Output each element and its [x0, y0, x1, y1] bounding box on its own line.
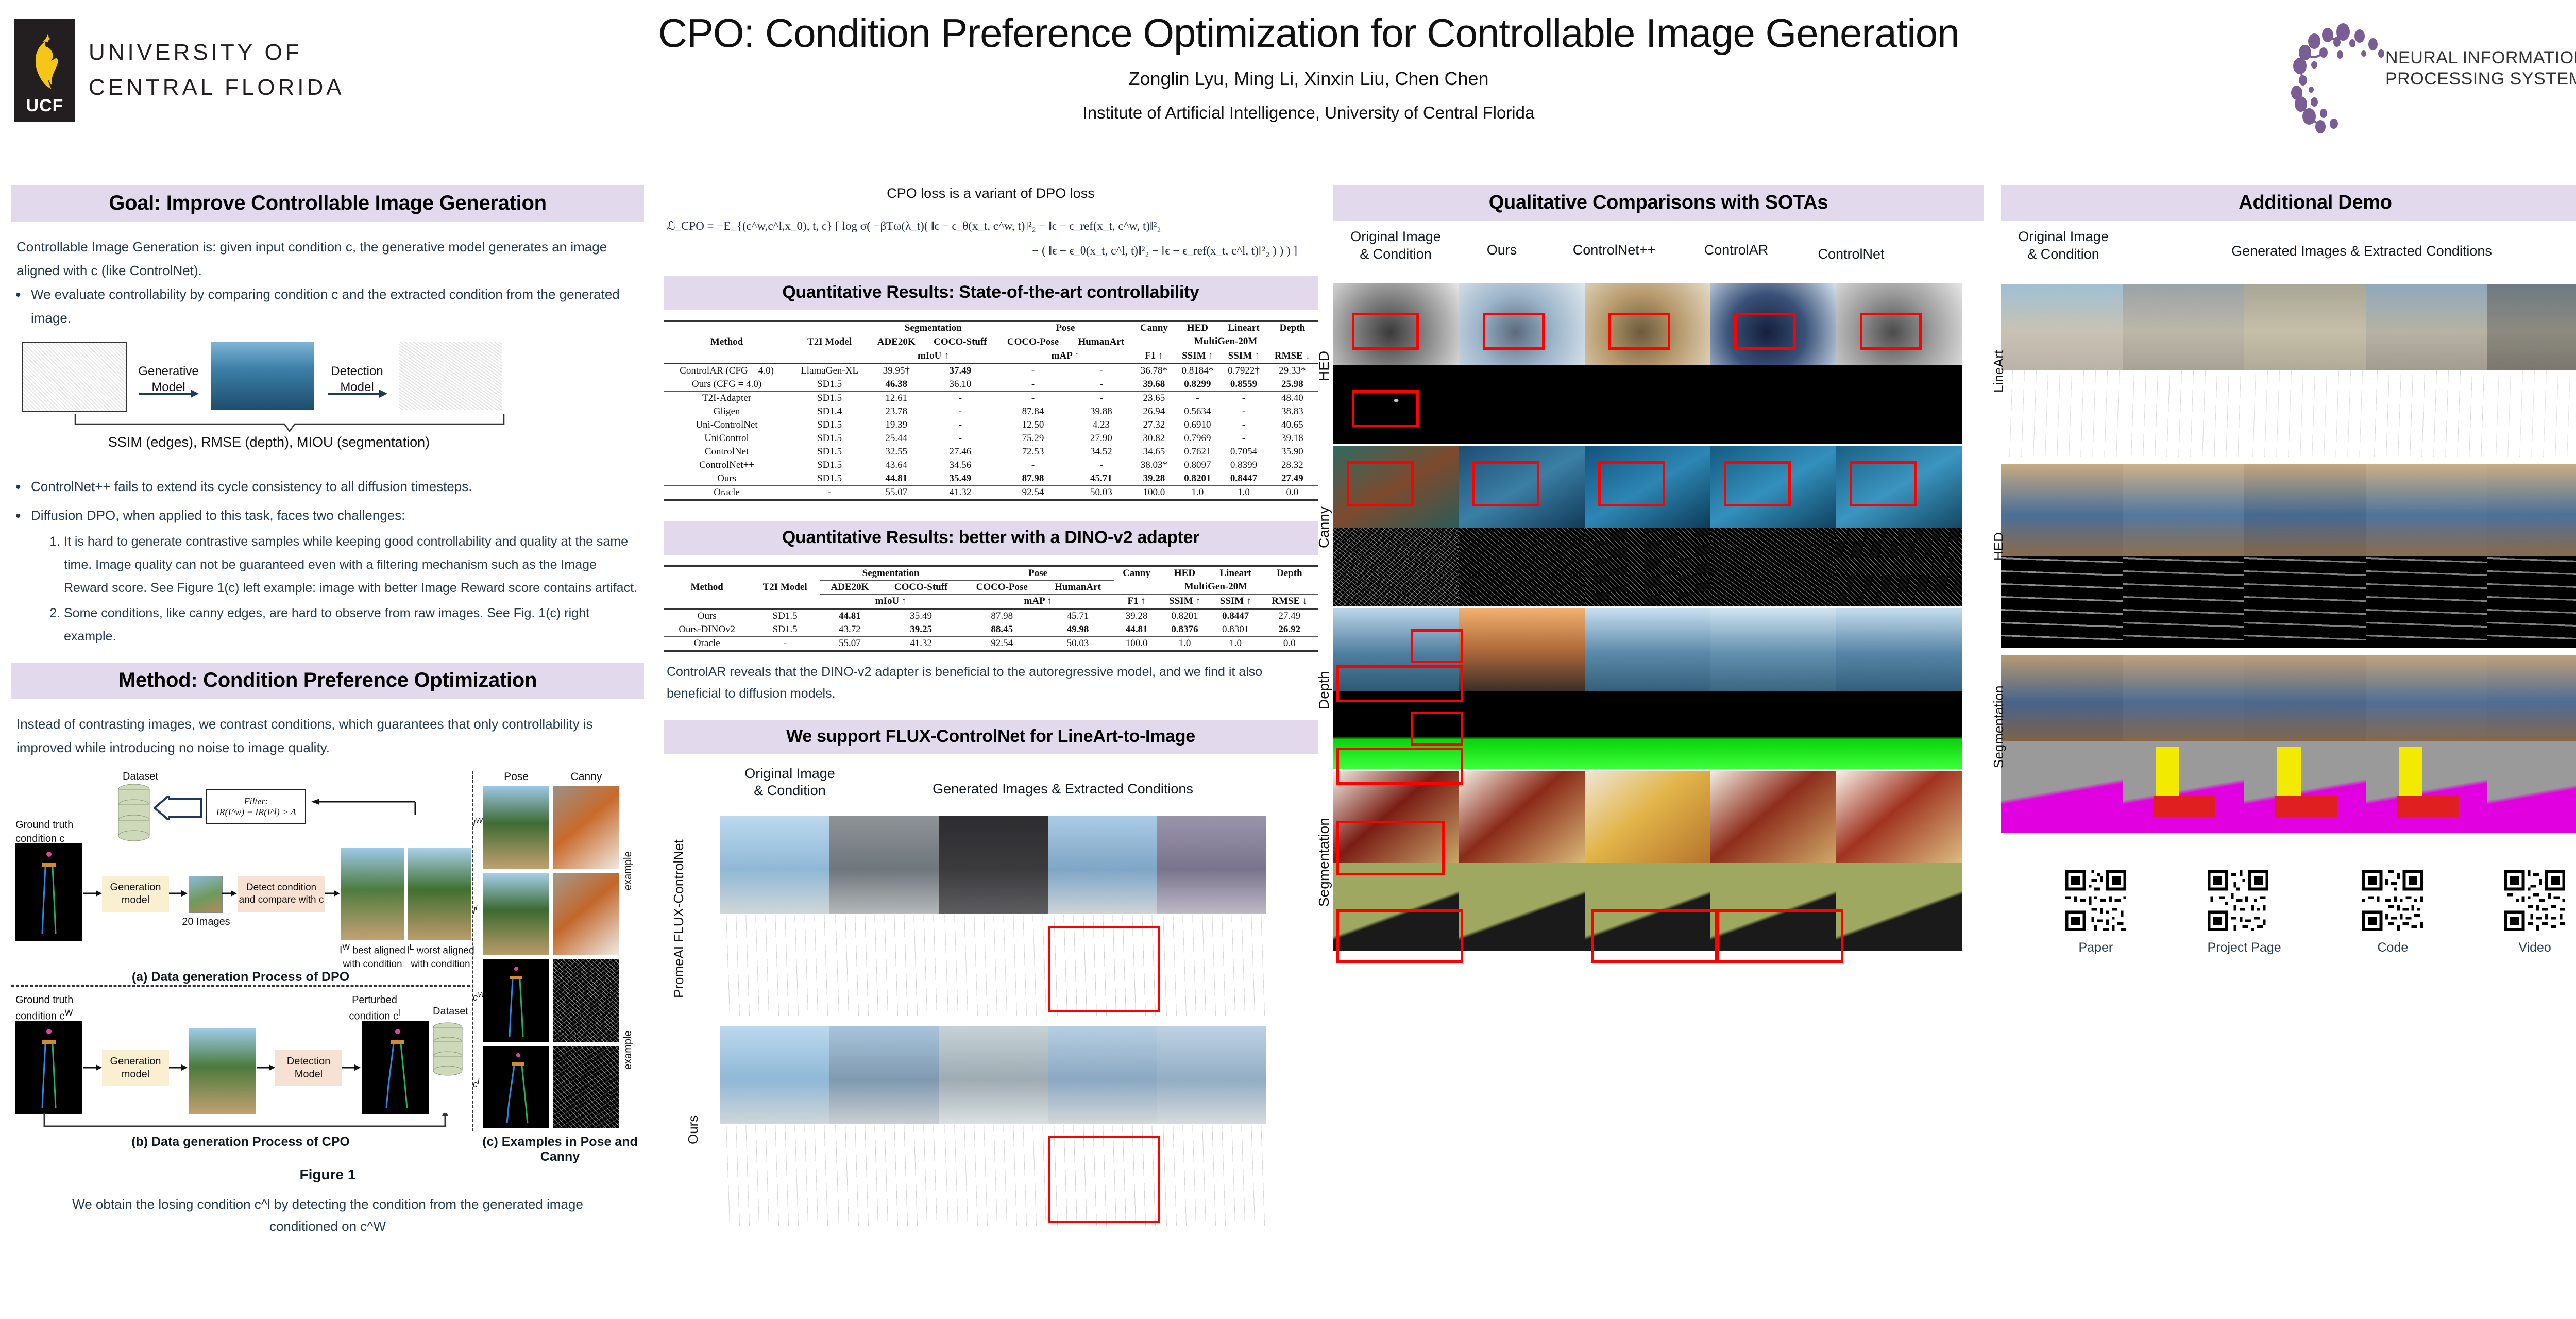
qual-highlight-box — [1591, 909, 1718, 963]
th-group-lineart-2: Lineart — [1210, 566, 1261, 580]
cell-lineart: 0.8447 — [1221, 472, 1267, 486]
flux-row-4-conditions — [720, 1125, 1266, 1226]
qual-col-controlnet-label: ControlNet — [1792, 246, 1910, 263]
cell-method: Ours — [664, 472, 790, 486]
ucf-logo: UCF UNIVERSITY OF CENTRAL FLORIDA — [14, 19, 345, 122]
arrow-right-icon-2 — [326, 387, 389, 400]
qualitative-grid: HED Canny Depth Segmentation — [1333, 283, 1984, 951]
demo-col-left-label: Original Image& Condition — [2004, 228, 2123, 263]
cell-ade20k: 46.38 — [869, 378, 923, 392]
feedback-arrow-icon — [304, 798, 417, 820]
demo-image-cell — [2001, 284, 2123, 370]
demo-seg-person-marker — [2156, 747, 2179, 796]
demo-row-lineart-conditions — [2001, 370, 2576, 457]
qual-highlight-box — [1352, 313, 1419, 350]
table2-body-group2: Oracle-55.0741.3292.5450.03100.01.01.00.… — [664, 636, 1318, 651]
cell-hed: 0.6910 — [1175, 418, 1221, 432]
qr-code-icon[interactable] — [2208, 870, 2268, 931]
cell-ade20k: 43.72 — [820, 623, 880, 637]
th-coco-pose: COCO-Pose — [997, 335, 1069, 349]
cell-lineart: 0.8399 — [1221, 459, 1267, 472]
condition-sketch-image — [22, 342, 127, 412]
cell-coco_pose: 75.29 — [997, 432, 1069, 445]
th-rmse-2: RMSE ↓ — [1261, 594, 1318, 608]
th-humanart: HumanArt — [1069, 335, 1134, 349]
cell-coco_stuff: 39.25 — [880, 623, 962, 637]
cell-canny: 39.28 — [1114, 608, 1159, 623]
demo-condition-cell — [2244, 556, 2366, 648]
cell-method: Gligen — [664, 405, 790, 418]
qr-code-icon[interactable] — [2362, 870, 2423, 931]
cell-ade20k: 39.95† — [869, 363, 923, 378]
th-rmse: RMSE ↓ — [1267, 349, 1318, 363]
cell-hed: 1.0 — [1159, 636, 1210, 651]
qual-image-cell — [1585, 771, 1710, 863]
qual-highlight-box — [1336, 909, 1463, 963]
demo-image-cell — [2244, 655, 2366, 741]
th-group-pose: Pose — [997, 320, 1134, 335]
qual-image-cell — [1836, 771, 1962, 863]
table-row: GligenSD1.423.78-87.8439.8826.940.5634-3… — [664, 405, 1318, 418]
demo-condition-cell — [2123, 741, 2244, 833]
th-multigen-2: MultiGen-20M — [1114, 580, 1318, 594]
cell-method: ControlAR (CFG = 4.0) — [664, 363, 790, 378]
arrow-small-icon-8 — [342, 1062, 361, 1073]
demo-seg-person-marker — [2277, 747, 2301, 796]
title-block: CPO: Condition Preference Optimization f… — [392, 11, 2226, 123]
cell-coco_pose: 72.53 — [997, 445, 1069, 459]
cell-humanart: 49.98 — [1042, 623, 1114, 637]
qual-col-ours-label: Ours — [1453, 242, 1551, 259]
qual-highlight-box — [1717, 909, 1843, 963]
cell-lineart: - — [1221, 432, 1267, 445]
th-method-2: Method — [664, 566, 750, 608]
demo-image-cell — [2123, 464, 2244, 556]
qual-highlight-box — [1850, 461, 1917, 506]
qr-block-paper[interactable]: Paper — [2065, 870, 2126, 955]
cell-coco_stuff: - — [923, 391, 997, 405]
th-group-depth: Depth — [1267, 320, 1318, 335]
th-group-depth-2: Depth — [1261, 566, 1318, 580]
cell-hed: 0.7621 — [1175, 445, 1221, 459]
cell-coco_pose: 92.54 — [962, 636, 1042, 651]
worst-aligned-caption: IL worst alignedwith condition — [404, 942, 477, 972]
cell-depth: 39.18 — [1267, 432, 1318, 445]
cell-coco_pose: - — [997, 363, 1069, 378]
cell-depth: 26.92 — [1261, 623, 1318, 637]
fig1b-dataset-label: Dataset — [433, 1006, 468, 1018]
cell-method: Ours-DINOv2 — [664, 623, 750, 637]
qual-condition-cell — [1459, 365, 1585, 444]
cell-humanart: 45.71 — [1069, 472, 1134, 486]
cell-depth: 27.49 — [1261, 608, 1318, 623]
cell-canny: 34.65 — [1133, 445, 1174, 459]
qual-highlight-box — [1608, 313, 1670, 350]
flux-row-label-promeai: PromeAI FLUX-ControlNet — [671, 821, 717, 1017]
list-item: We evaluate controllability by comparing… — [11, 282, 644, 330]
cell-ade20k: 55.07 — [820, 636, 880, 651]
flux-image-cell — [939, 816, 1048, 914]
fig1b-perturbed-label: Perturbedcondition cl — [331, 993, 418, 1024]
th-method: Method — [664, 320, 790, 363]
demo-condition-cell — [2244, 370, 2366, 457]
qr-code-icon[interactable] — [2504, 870, 2565, 931]
qual-image-cell — [1585, 608, 1710, 691]
flux-row4-highlight-box — [1048, 1136, 1160, 1223]
fig1a-generation-model-box: Generationmodel — [102, 876, 169, 912]
cell-canny: 38.03* — [1133, 459, 1174, 472]
list-item: It is hard to generate contrastive sampl… — [64, 530, 644, 600]
cell-lineart: 0.7054 — [1221, 445, 1267, 459]
extracted-condition-image — [399, 342, 502, 410]
demo-image-cell — [2487, 284, 2576, 370]
th-miou-2: mIoU ↑ — [820, 594, 962, 608]
th-group-segmentation-2: Segmentation — [820, 566, 962, 580]
demo-grid: LineArt HED Segmentation — [2001, 284, 2576, 833]
table-row: T2I-AdapterSD1.512.61---23.65--48.40 — [664, 391, 1318, 405]
goal-pipeline-figure: GenerativeModel DetectionModel SSIM (edg… — [11, 340, 644, 458]
flux-col-left-label: Original Image& Condition — [731, 765, 849, 800]
th-ssim-lineart: SSIM ↑ — [1221, 349, 1267, 363]
th-miou: mIoU ↑ — [869, 349, 997, 363]
metrics-label: SSIM (edges), RMSE (depth), MIOU (segmen… — [11, 434, 527, 450]
table-row: Ours (CFG = 4.0)SD1.546.3836.10--39.680.… — [664, 378, 1318, 392]
cell-t2i: SD1.5 — [790, 459, 869, 472]
arrow-small-icon-5 — [83, 1062, 102, 1073]
demo-image-cell — [2487, 655, 2576, 741]
cell-t2i: SD1.5 — [790, 432, 869, 445]
qual-image-cell — [1710, 608, 1836, 691]
gt-pose-condition-image — [15, 843, 82, 941]
arrow-small-icon-7 — [257, 1062, 275, 1073]
arrow-small-icon-6 — [169, 1062, 188, 1073]
cell-method: Uni-ControlNet — [664, 418, 790, 432]
cpo-loss-formula: ℒ_CPO = −E_{(c^w,c^l,x_0), t, ϵ} [ log σ… — [664, 214, 1318, 264]
cell-hed: 0.8376 — [1159, 623, 1210, 637]
demo-seg-person-marker — [2399, 747, 2422, 796]
qual-condition-cell — [1459, 691, 1585, 769]
fig1c-canny-cl-image — [553, 1046, 619, 1128]
qual-condition-cell — [1459, 863, 1585, 951]
fig1a-filter-box: Filter: IR(I^w) − IR(I^l) > Δ — [206, 789, 306, 824]
column-center-right: Qualitative Comparisons with SOTAs Origi… — [1333, 185, 1984, 951]
qual-row-label-hed: HED — [1316, 291, 1336, 441]
author-list: Zonglin Lyu, Ming Li, Xinxin Liu, Chen C… — [392, 68, 2226, 90]
cell-lineart: 1.0 — [1210, 636, 1261, 651]
th-ade20k: ADE20K — [869, 335, 923, 349]
fig1c-col-pose-label: Pose — [483, 771, 549, 783]
demo-image-cell — [2123, 655, 2244, 741]
results-table-dinov2: Method T2I Model Segmentation Pose Canny… — [664, 565, 1318, 652]
cell-t2i: SD1.5 — [790, 472, 869, 486]
cell-canny: 100.0 — [1114, 636, 1159, 651]
flux-section-header: We support FLUX-ControlNet for LineArt-t… — [664, 720, 1318, 754]
qual-row-label-depth: Depth — [1316, 616, 1336, 765]
cell-lineart: 0.8559 — [1221, 378, 1267, 392]
fig1b-gt-condition-label: Ground truthcondition cW — [15, 993, 103, 1024]
fig1a-gt-condition-label: Ground truthcondition c — [15, 818, 93, 846]
qual-highlight-box — [1336, 748, 1463, 785]
neurips-line1: NEURAL INFORMATION — [2385, 47, 2576, 69]
best-aligned-caption: IW best alignedwith condition — [336, 942, 409, 972]
fig1c-canny-il-image — [553, 873, 619, 955]
cell-hed: 0.8201 — [1159, 608, 1210, 623]
cell-canny: 36.78* — [1133, 363, 1174, 378]
column-right: Additional Demo Original Image& Conditio… — [2001, 185, 2576, 955]
cell-ade20k: 23.78 — [869, 405, 923, 418]
pegasus-icon — [25, 31, 65, 93]
neurips-wordmark: NEURAL INFORMATION PROCESSING SYSTEMS — [2385, 47, 2576, 90]
cell-humanart: - — [1069, 363, 1134, 378]
qual-highlight-box — [1472, 461, 1539, 506]
cell-depth: 38.83 — [1267, 405, 1318, 418]
ucf-wordmark: UNIVERSITY OF CENTRAL FLORIDA — [89, 35, 345, 105]
cell-depth: 29.33* — [1267, 363, 1318, 378]
filter-formula: IR(I^w) − IR(I^l) > Δ — [216, 807, 296, 818]
flux-row-3-images — [720, 1026, 1266, 1124]
demo-condition-cell — [2366, 370, 2487, 457]
pose-skeleton-cw-icon — [483, 959, 549, 1042]
qr-block-video[interactable]: Video — [2504, 870, 2565, 955]
cell-coco_stuff: - — [923, 432, 997, 445]
flux-image-cell — [1048, 1026, 1157, 1124]
flux-image-cell — [720, 816, 829, 914]
cell-canny: 30.82 — [1133, 432, 1174, 445]
th-humanart-2: HumanArt — [1042, 580, 1114, 594]
cell-ade20k: 44.81 — [869, 472, 923, 486]
qual-highlight-box — [1347, 461, 1414, 506]
arrow-small-icon-3 — [222, 888, 237, 899]
fig1c-row-label-cl: cl — [473, 1077, 479, 1090]
loss-heading: CPO loss is a variant of DPO loss — [664, 185, 1318, 201]
column-left: Goal: Improve Controllable Image Generat… — [11, 185, 644, 1238]
table1-section-header: Quantitative Results: State-of-the-art c… — [664, 276, 1318, 310]
cell-canny: 44.81 — [1114, 623, 1159, 637]
cell-lineart: 0.8301 — [1210, 623, 1261, 637]
ucf-wordmark-line1: UNIVERSITY OF — [89, 35, 345, 70]
fig1c-col-canny-label: Canny — [553, 771, 619, 783]
cell-coco_pose: 87.98 — [997, 472, 1069, 486]
fig1b-generation-model-box: Generationmodel — [102, 1050, 169, 1086]
column-center-left: CPO loss is a variant of DPO loss ℒ_CPO … — [664, 185, 1318, 1238]
generated-samples-stack — [189, 876, 223, 913]
cell-hed: 1.0 — [1175, 485, 1221, 500]
challenge-sublist: It is hard to generate contrastive sampl… — [48, 530, 644, 648]
table-row: ControlNetSD1.532.5527.4672.5334.5234.65… — [664, 445, 1318, 459]
cell-humanart: - — [1069, 459, 1134, 472]
demo-seg-red-marker — [2275, 796, 2337, 817]
table-row: Oracle-55.0741.3292.5450.03100.01.01.00.… — [664, 485, 1318, 500]
qual-condition-cell — [1836, 528, 1962, 606]
qual-highlight-box — [1352, 390, 1419, 427]
cell-humanart: 34.52 — [1069, 445, 1134, 459]
qual-col-controlar-label: ControlAR — [1680, 242, 1793, 259]
flux-image-cell — [829, 816, 939, 914]
page-title: CPO: Condition Preference Optimization f… — [392, 11, 2226, 55]
cell-depth: 27.49 — [1267, 472, 1318, 486]
cell-lineart: - — [1221, 391, 1267, 405]
fig1b-detection-model-box: DetectionModel — [275, 1050, 342, 1086]
fig1a-n-images-label: 20 Images — [180, 916, 232, 928]
cell-lineart: - — [1221, 418, 1267, 432]
cell-t2i: SD1.5 — [790, 391, 869, 405]
cell-coco_stuff: 41.32 — [880, 636, 962, 651]
best-aligned-image — [341, 848, 404, 940]
qual-condition-cell — [1585, 528, 1710, 606]
qr-code-icon[interactable] — [2065, 870, 2126, 931]
pose-skeleton-perturbed-icon — [362, 1021, 429, 1114]
cell-canny: 26.94 — [1133, 405, 1174, 418]
demo-row-label-hed: HED — [1991, 469, 2011, 624]
fig1c-pose-iw-image — [483, 786, 549, 869]
qual-image-cell — [1710, 771, 1836, 863]
fig1c-pose-il-image — [483, 873, 549, 955]
qual-highlight-box — [1411, 629, 1463, 663]
goal-challenge-list: ControlNet++ fails to extend its cycle c… — [11, 475, 644, 649]
th-ssim-lineart-2: SSIM ↑ — [1210, 594, 1261, 608]
cell-coco_pose: - — [997, 459, 1069, 472]
cell-method: T2I-Adapter — [664, 391, 790, 405]
qual-highlight-box — [1411, 712, 1463, 746]
qr-block-project-page[interactable]: Project Page — [2208, 870, 2281, 955]
cell-depth: 0.0 — [1261, 636, 1318, 651]
cell-coco_pose: - — [997, 378, 1069, 392]
arrow-small-icon — [83, 888, 102, 899]
cell-humanart: 27.90 — [1069, 432, 1134, 445]
method-intro-text: Instead of contrasting images, we contra… — [16, 713, 642, 759]
cell-method: Oracle — [664, 485, 790, 500]
flux-condition-cell — [1157, 915, 1266, 1016]
flux-image-cell — [1157, 816, 1266, 914]
qual-highlight-box — [1724, 461, 1791, 506]
figure1-label: Figure 1 — [11, 1166, 644, 1183]
cell-humanart: 50.03 — [1069, 485, 1134, 500]
fig1b-collector-path-icon — [42, 1113, 454, 1136]
qr-label-paper: Paper — [2065, 940, 2126, 955]
qr-label-video: Video — [2504, 940, 2565, 955]
qual-condition-cell — [1333, 528, 1459, 606]
cell-hed: 0.8201 — [1175, 472, 1221, 486]
cell-lineart: 0.7922† — [1221, 363, 1267, 378]
th-group-canny: Canny — [1133, 320, 1174, 335]
demo-image-cell — [2001, 464, 2123, 556]
generated-image — [211, 342, 314, 410]
cell-method: Oracle — [664, 636, 750, 651]
cpo-loss-line2: − ( ‖ϵ − ϵ_θ(x_t, c^l, t)‖²₂ − ‖ϵ − ϵ_re… — [664, 239, 1318, 263]
gt-pose-condition-image-b — [15, 1021, 82, 1114]
database-icon — [114, 783, 154, 844]
cell-hed: 0.5634 — [1175, 405, 1221, 418]
database-icon-b — [430, 1021, 466, 1079]
qr-code-row: Paper Project Page — [2001, 870, 2576, 955]
cell-canny: 100.0 — [1133, 485, 1174, 500]
cell-ade20k: 44.81 — [820, 608, 880, 623]
list-item-label: Diffusion DPO, when applied to this task… — [31, 508, 405, 523]
cell-t2i: - — [790, 485, 869, 500]
demo-condition-cell — [2244, 741, 2366, 833]
cell-humanart: 50.03 — [1042, 636, 1114, 651]
demo-condition-cell — [2366, 741, 2487, 833]
table-row: OursSD1.544.8135.4987.9845.7139.280.8201… — [664, 608, 1318, 623]
cell-ade20k: 12.61 — [869, 391, 923, 405]
fig1-horizontal-divider — [11, 985, 470, 987]
brace-icon — [73, 412, 506, 433]
worst-aligned-image — [408, 848, 471, 940]
fig1c-canny-cw-image — [553, 959, 619, 1042]
flux-row-1-images — [720, 816, 1266, 914]
qual-col-controlnetpp-label: ControlNet++ — [1550, 242, 1679, 259]
cell-t2i: SD1.5 — [790, 445, 869, 459]
fig1c-side-label-top: example — [622, 793, 634, 948]
cell-canny: 27.32 — [1133, 418, 1174, 432]
list-item: ControlNet++ fails to extend its cycle c… — [11, 475, 644, 498]
ucf-abbreviation: UCF — [26, 97, 64, 114]
neurips-logo: NEURAL INFORMATION PROCESSING SYSTEMS — [2282, 18, 2576, 136]
arrow-small-icon-2 — [169, 888, 188, 899]
qual-condition-cell — [1585, 365, 1710, 444]
qual-row-label-segmentation: Segmentation — [1316, 777, 1336, 948]
flux-condition-cell — [829, 1125, 939, 1226]
cell-method: Ours — [664, 608, 750, 623]
cell-canny: 39.68 — [1133, 378, 1174, 392]
cell-coco_stuff: 35.49 — [923, 472, 997, 486]
demo-condition-cell — [2001, 556, 2123, 648]
figure1-diagram: Dataset Filter: IR(I^w) − IR(I^l) > Δ Gr… — [11, 771, 644, 1131]
cell-depth: 40.65 — [1267, 418, 1318, 432]
qr-label-code: Code — [2362, 940, 2423, 955]
table-row: OursSD1.544.8135.4987.9845.7139.280.8201… — [664, 472, 1318, 486]
flux-condition-cell — [720, 915, 829, 1016]
qual-highlight-box — [1598, 461, 1665, 506]
cell-coco_pose: - — [997, 391, 1069, 405]
flux-image-cell — [1048, 816, 1157, 914]
table2-body-group1: OursSD1.544.8135.4987.9845.7139.280.8201… — [664, 608, 1318, 636]
demo-image-cell — [2001, 655, 2123, 741]
ucf-logo-mark: UCF — [14, 19, 75, 122]
pose-skeleton-icon-b — [15, 1021, 82, 1114]
qualitative-column-headers: Original Image& Condition Ours ControlNe… — [1333, 225, 1984, 292]
qual-row-canny-conditions — [1333, 528, 1984, 606]
qual-condition-cell — [1710, 691, 1836, 769]
poster-header: UCF UNIVERSITY OF CENTRAL FLORIDA CPO: C… — [0, 0, 2576, 175]
qual-col-original-label: Original Image& Condition — [1342, 228, 1450, 263]
table2-section-header: Quantitative Results: better with a DINO… — [664, 521, 1318, 555]
cell-t2i: SD1.5 — [790, 378, 869, 392]
cell-ade20k: 55.07 — [869, 485, 923, 500]
cell-humanart: 4.23 — [1069, 418, 1134, 432]
filter-label: Filter: — [244, 796, 268, 807]
cell-coco_pose: 12.50 — [997, 418, 1069, 432]
demo-section-header: Additional Demo — [2001, 185, 2576, 221]
cell-method: ControlNet — [664, 445, 790, 459]
th-group-canny-2: Canny — [1114, 566, 1159, 580]
demo-condition-cell — [2487, 370, 2576, 457]
qual-highlight-box — [1860, 313, 1922, 350]
qual-row-hed-conditions — [1333, 365, 1984, 444]
qual-image-cell — [1459, 771, 1585, 863]
cell-t2i: LlamaGen-XL — [790, 363, 869, 378]
cell-coco_stuff: 41.32 — [923, 485, 997, 500]
cell-t2i: SD1.5 — [750, 608, 819, 623]
qr-block-code[interactable]: Code — [2362, 870, 2423, 955]
cell-t2i: SD1.5 — [750, 623, 819, 637]
qual-row-label-canny: Canny — [1316, 453, 1336, 602]
cell-ade20k: 19.39 — [869, 418, 923, 432]
table1-body-group2: T2I-AdapterSD1.512.61---23.65--48.40Glig… — [664, 391, 1318, 485]
qual-image-cell — [1459, 608, 1585, 691]
demo-image-cell — [2123, 284, 2244, 370]
cell-hed: 0.8184* — [1175, 363, 1221, 378]
